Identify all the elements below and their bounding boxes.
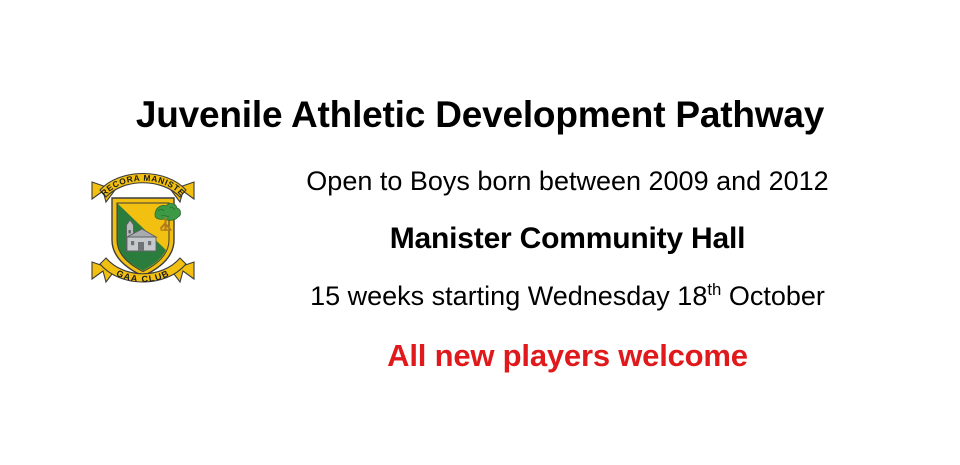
welcome-callout-text: All new players welcome (175, 336, 960, 376)
page-title: Juvenile Athletic Development Pathway (0, 93, 960, 137)
schedule-prefix: 15 weeks starting Wednesday 18 (310, 281, 707, 311)
schedule-text: 15 weeks starting Wednesday 18th October (175, 279, 960, 313)
schedule-ordinal-suffix: th (707, 280, 721, 299)
poster-canvas: Juvenile Athletic Development Pathway CR… (0, 0, 960, 465)
eligibility-text: Open to Boys born between 2009 and 2012 (175, 164, 960, 198)
schedule-month: October (721, 281, 825, 311)
venue-text: Manister Community Hall (175, 220, 960, 258)
